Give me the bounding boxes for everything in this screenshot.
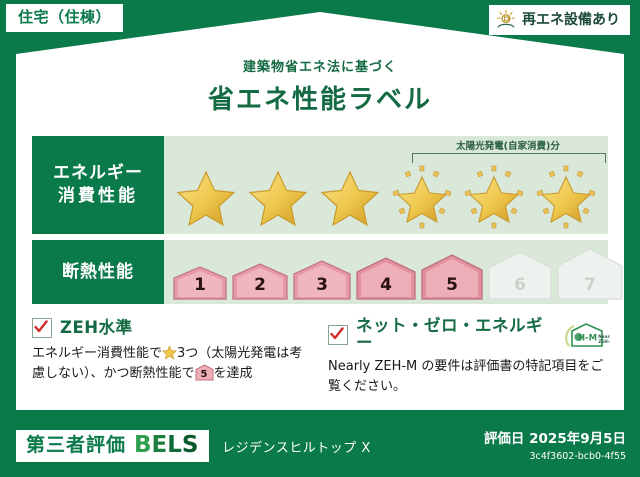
star-icon-solar — [388, 164, 456, 230]
insulation-level-2: 2 — [231, 263, 289, 300]
star-icon — [244, 164, 312, 230]
insulation-scale: 1 2 3 4 5 — [172, 248, 624, 300]
star-icon-solar — [460, 164, 528, 230]
insulation-level-7: 7 — [556, 248, 624, 300]
insulation-level-number: 6 — [487, 277, 553, 294]
title-subtitle: 建築物省エネ法に基づく — [0, 56, 640, 75]
insulation-level-number: 7 — [556, 277, 624, 294]
solar-bracket — [412, 153, 606, 163]
energy-performance-row: エネルギー 消費性能 太陽光発電(自家消費)分 — [32, 136, 608, 234]
insulation-level-number: 1 — [172, 277, 228, 294]
insulation-level-number: 2 — [231, 277, 289, 294]
check-icon — [32, 318, 52, 338]
zeh-m-logo-icon: H-M Nearly ZEH-M — [564, 322, 610, 348]
net-zero-energy-body: Nearly ZEH-M の要件は評価書の特記項目をご覧ください。 — [328, 357, 610, 397]
renewable-badge-label: 再エネ設備あり — [522, 13, 620, 27]
property-name: レジデンスヒルトップ X — [222, 442, 371, 455]
category-tag: 住宅（住棟） — [6, 4, 123, 32]
insulation-level-5: 5 — [420, 254, 484, 300]
energy-performance-body: 太陽光発電(自家消費)分 — [164, 136, 608, 234]
svg-text:H-M: H-M — [578, 333, 597, 343]
net-zero-energy-title: ネット・ゼロ・エネルギー — [356, 318, 556, 351]
zeh-standard-body: エネルギー消費性能で3つ（太陽光発電は考慮しない）、かつ断熱性能で5を達成 — [32, 344, 314, 384]
star-icon-solar — [532, 164, 600, 230]
svg-text:ZEH-M: ZEH-M — [598, 339, 610, 344]
star-icon — [172, 164, 240, 230]
zeh-statements: ZEH水準 エネルギー消費性能で3つ（太陽光発電は考慮しない）、かつ断熱性能で5… — [32, 318, 612, 402]
page-title: 省エネ性能ラベル — [0, 79, 640, 116]
energy-performance-label: エネルギー 消費性能 — [32, 136, 164, 234]
insulation-performance-body: 1 2 3 4 5 — [164, 240, 608, 304]
star-icon — [316, 164, 384, 230]
insulation-level-6: 6 — [487, 251, 553, 300]
insulation-performance-row: 断熱性能 1 2 3 4 — [32, 240, 608, 304]
energy-performance-label: 住宅（住棟） 再エネ設備あり 建築物省エネ法に基づく 省エネ性能ラベル — [0, 0, 640, 477]
bottom-bar: 第三者評価 BELS レジデンスヒルトップ X 評価日 2025年9月5日 3c… — [0, 421, 640, 477]
energy-label-line2: 消費性能 — [58, 185, 138, 208]
zeh-body-part3: を達成 — [214, 366, 253, 381]
insulation-badge-number: 5 — [195, 370, 214, 380]
bels-japanese-label: 第三者評価 — [26, 436, 126, 455]
insulation-performance-label: 断熱性能 — [32, 240, 164, 304]
net-zero-energy-block: ネット・ゼロ・エネルギー H-M Nearly ZEH-M Nearly ZEH… — [328, 318, 610, 402]
evaluation-date: 評価日 2025年9月5日 — [484, 433, 626, 447]
insulation-label-text: 断熱性能 — [62, 261, 134, 284]
star-icon-inline — [162, 345, 177, 360]
insulation-level-number: 3 — [292, 277, 352, 294]
zeh-standard-header: ZEH水準 — [32, 318, 314, 338]
zeh-body-star-text: 3つ（太陽光発電 — [177, 346, 276, 361]
energy-label-line1: エネルギー — [53, 162, 143, 185]
bels-certification-box: 第三者評価 BELS — [16, 430, 209, 462]
check-icon — [328, 325, 348, 345]
insulation-level-3: 3 — [292, 260, 352, 300]
sun-solar-icon — [495, 9, 517, 31]
net-zero-energy-header: ネット・ゼロ・エネルギー H-M Nearly ZEH-M — [328, 318, 610, 351]
insulation-level-1: 1 — [172, 266, 228, 300]
insulation-level-4: 4 — [355, 257, 417, 300]
bels-logo: BELS — [134, 434, 198, 457]
renewable-energy-badge: 再エネ設備あり — [489, 5, 630, 35]
insulation-level-number: 4 — [355, 277, 417, 294]
zeh-standard-block: ZEH水準 エネルギー消費性能で3つ（太陽光発電は考慮しない）、かつ断熱性能で5… — [32, 318, 314, 402]
evaluation-id: 3c4f3602-bcb0-4f55 — [530, 452, 627, 462]
insulation-badge-inline: 5 — [195, 364, 214, 381]
insulation-level-number: 5 — [420, 277, 484, 294]
solar-annotation-label: 太陽光発電(自家消費)分 — [410, 138, 606, 152]
zeh-standard-title: ZEH水準 — [60, 320, 133, 337]
label-title-block: 建築物省エネ法に基づく 省エネ性能ラベル — [0, 56, 640, 116]
star-rating — [164, 164, 608, 230]
zeh-body-part1: エネルギー消費性能で — [32, 346, 162, 361]
